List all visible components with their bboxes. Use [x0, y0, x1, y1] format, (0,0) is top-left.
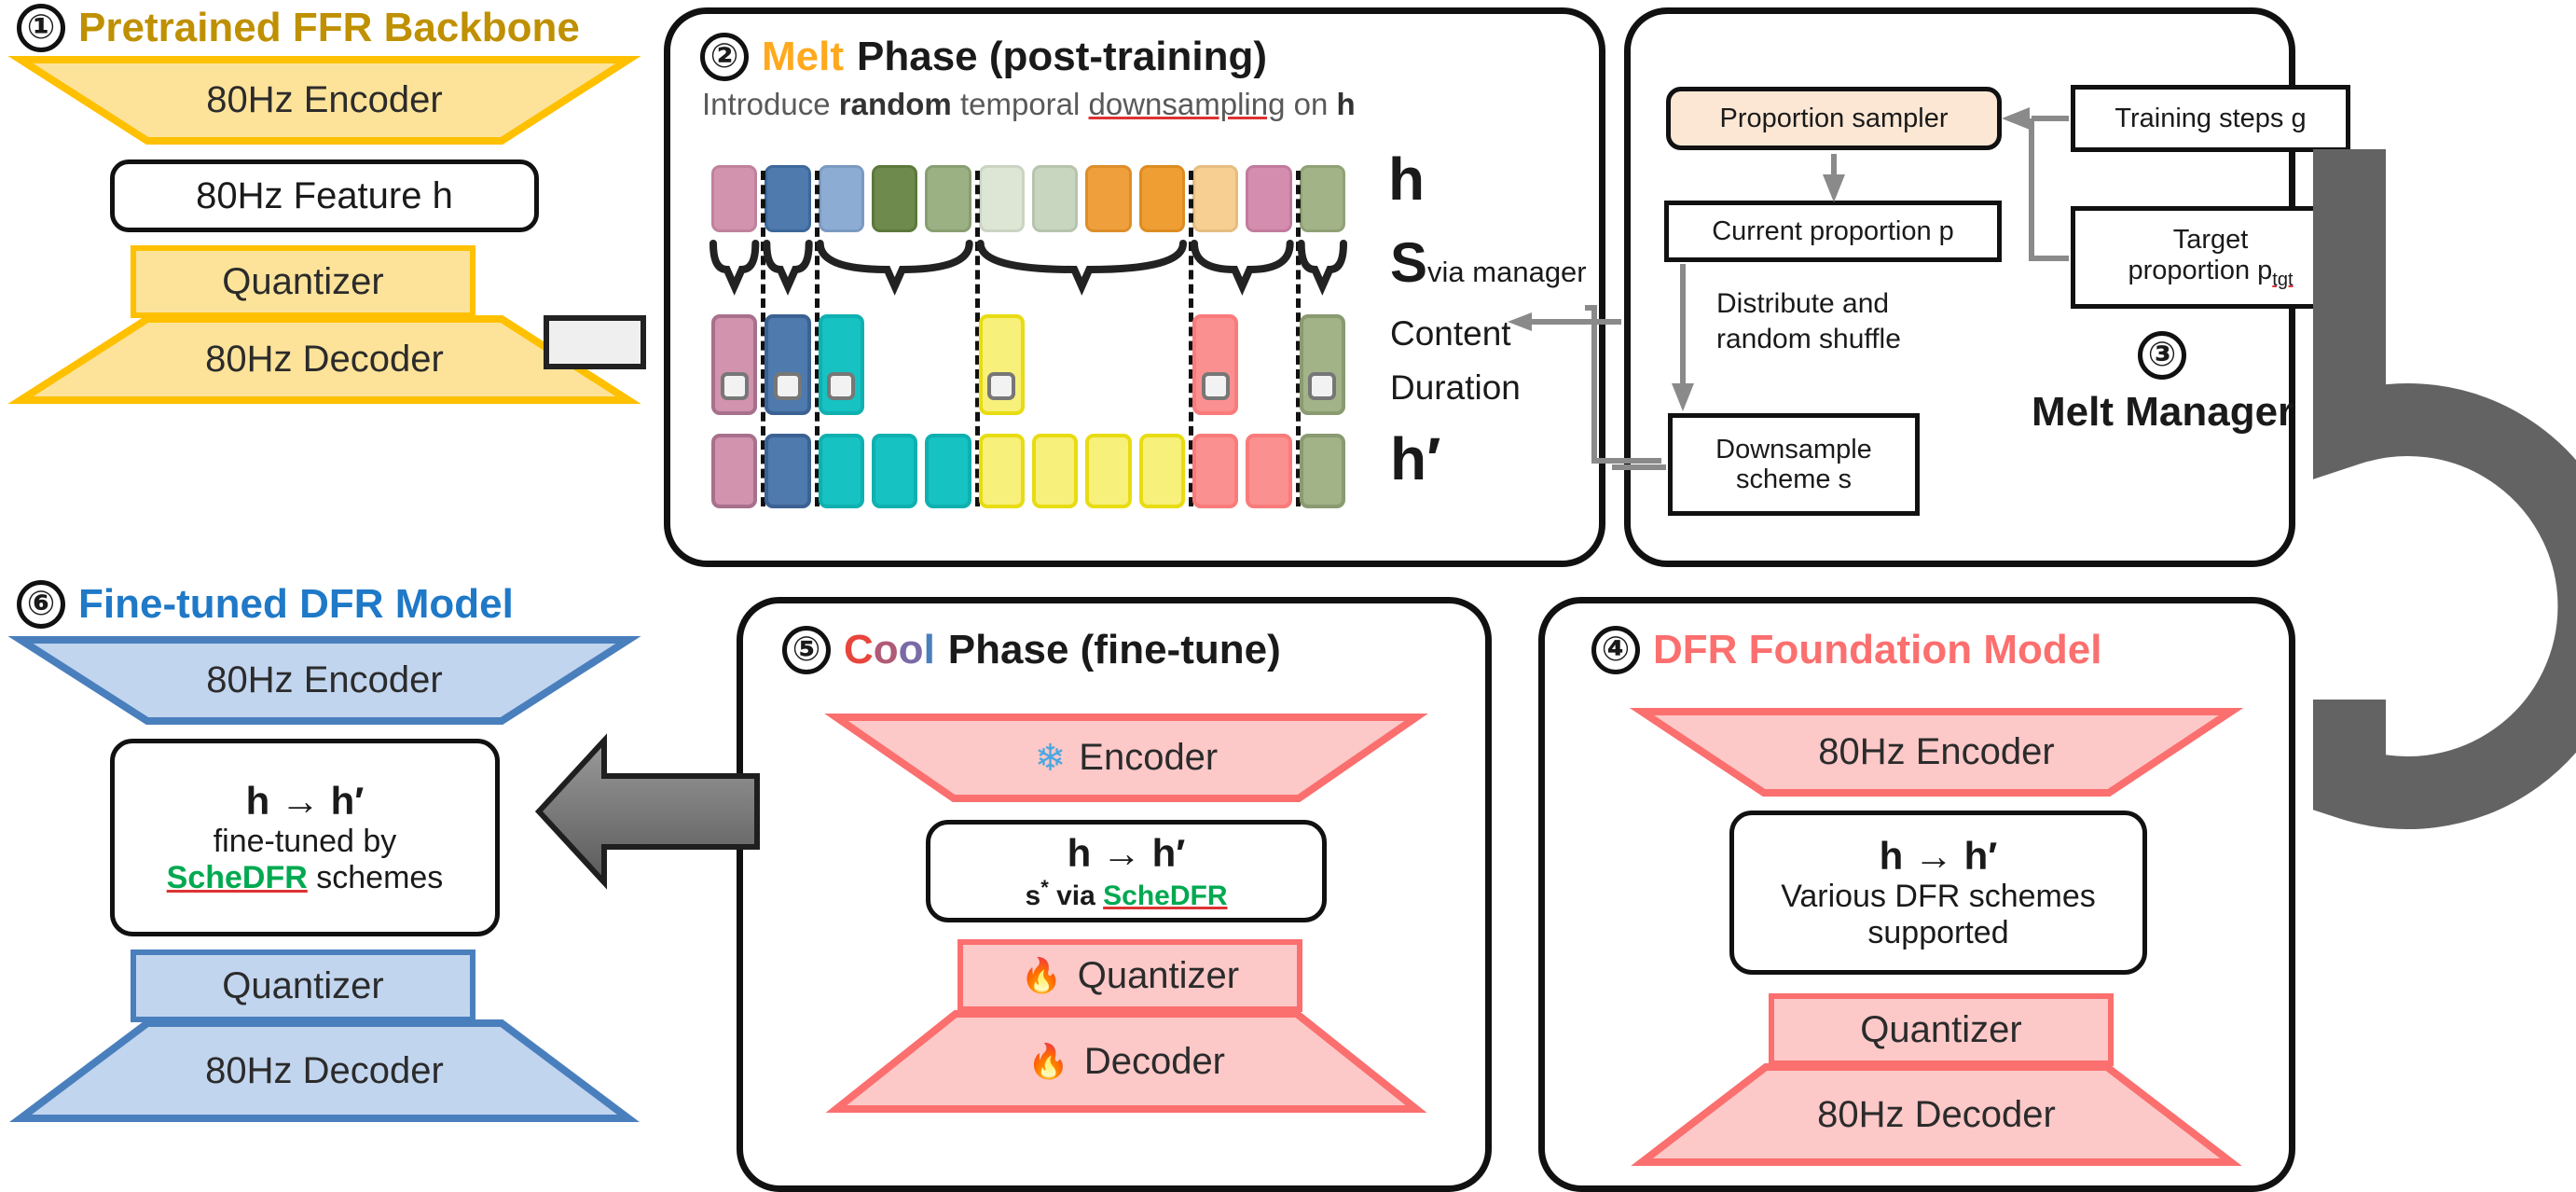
step-number-4: ④: [1591, 626, 1640, 674]
group-brace: [1302, 243, 1343, 286]
panel2-title-melt: Melt: [762, 34, 844, 80]
scheme-feedback-line: [1557, 298, 1678, 476]
panel1-quantizer: Quantizer: [131, 245, 475, 318]
panel5-map-line: h → h′: [1068, 831, 1186, 876]
panel6-title: Fine-tuned DFR Model: [78, 581, 514, 628]
panel4-quantizer: Quantizer: [1769, 993, 2114, 1066]
panel5-encoder-label: Encoder: [1079, 737, 1218, 779]
panel4-title-row: ④ DFR Foundation Model: [1591, 626, 2101, 674]
panel2-subtitle-random: random: [839, 87, 952, 121]
panel2-subtitle-downsampling: downsampling: [1089, 87, 1286, 121]
panel6-sub-line1: fine-tuned by: [214, 824, 397, 860]
panel-melt-manager: Proportion sampler Current proportion p …: [1624, 7, 2295, 567]
panel5-title-row: ⑤ Cool Phase (fine-tune): [782, 626, 1281, 674]
panel2-s-sub: via manager: [1427, 256, 1587, 288]
group-duration-marker: [774, 372, 802, 400]
panel2-braces-row: [711, 238, 1345, 298]
panel5-decoder-label-wrap: 🔥 Decoder: [833, 1010, 1420, 1113]
panel6-sub-line2: ScheDFR schemes: [167, 860, 444, 896]
panel2-subtitle: Introduce random temporal downsampling o…: [702, 87, 1356, 122]
panel2-subtitle-h: h: [1337, 87, 1356, 121]
panel5-quantizer: 🔥 Quantizer: [957, 939, 1302, 1012]
group-brace-set: [711, 238, 1345, 298]
hprime-frame-block: [765, 434, 810, 508]
panel3-arrows: [1631, 14, 2302, 574]
panel6-quantizer: Quantizer: [131, 949, 475, 1022]
hprime-frame-block: [1032, 434, 1078, 508]
group-brace: [766, 243, 808, 286]
panel4-sub-line2: supported: [1867, 915, 2008, 951]
panel5-encoder-label-wrap: ❄ Encoder: [833, 714, 1420, 802]
panel-cool-phase: ⑤ Cool Phase (fine-tune) ❄ Encoder h → h…: [737, 597, 1492, 1192]
fire-icon-quantizer: 🔥: [1021, 956, 1063, 995]
panel1-panel2-connector: [544, 315, 646, 369]
group-duration-marker: [827, 372, 855, 400]
panel6-title-row: ⑥ Fine-tuned DFR Model: [17, 580, 514, 629]
panel6-schedfr: ScheDFR: [167, 860, 308, 895]
panel1-feature-label: 80Hz Feature h: [196, 175, 453, 217]
snowflake-icon: ❄: [1035, 737, 1067, 780]
group-duration-marker: [1202, 372, 1230, 400]
panel1-quantizer-label: Quantizer: [222, 261, 383, 303]
hprime-frame-block: [979, 434, 1025, 508]
panel4-decoder-label: 80Hz Decoder: [1638, 1063, 2235, 1166]
hprime-frame-block: [1139, 434, 1185, 508]
panel6-quantizer-label: Quantizer: [222, 965, 383, 1007]
panel1-encoder: 80Hz Encoder: [17, 56, 632, 145]
panel6-map-box: h → h′ fine-tuned by ScheDFR schemes: [110, 739, 500, 936]
group-brace: [713, 243, 755, 286]
panel2-s-glyph: S: [1390, 231, 1427, 294]
group-duration-marker: [721, 372, 749, 400]
panel6-encoder-label: 80Hz Encoder: [17, 636, 632, 725]
recirculation-arrow-outline: [2247, 140, 2576, 793]
panel5-sub-s: s: [1026, 880, 1041, 911]
group-brace: [1194, 243, 1290, 286]
step-number-6: ⑥: [17, 580, 65, 629]
panel6-encoder: 80Hz Encoder: [17, 636, 632, 725]
hprime-frame-block: [1192, 434, 1238, 508]
hprime-frame-block: [872, 434, 917, 508]
panel2-subtitle-e: on: [1285, 87, 1336, 121]
panel6-decoder: 80Hz Decoder: [17, 1019, 632, 1122]
panel4-quantizer-label: Quantizer: [1860, 1009, 2021, 1051]
panel2-subtitle-c: temporal: [952, 87, 1089, 121]
panel1-feature-box: 80Hz Feature h: [110, 159, 539, 232]
hprime-frame-block: [711, 434, 757, 508]
panel6-decoder-label: 80Hz Decoder: [17, 1019, 632, 1122]
step-number-2: ②: [700, 33, 749, 81]
panel5-sub-line: s* via ScheDFR: [1026, 876, 1228, 912]
panel2-h-label: h: [1388, 145, 1425, 214]
panel2-title-rest: Phase (post-training): [857, 34, 1267, 80]
panel2-subtitle-a: Introduce: [702, 87, 839, 121]
panel2-hprime-label: h′: [1390, 424, 1440, 493]
panel5-sub-star: *: [1040, 876, 1049, 899]
hprime-frame-block: [925, 434, 971, 508]
panel6-map-line: h → h′: [246, 779, 365, 824]
step-number-5: ⑤: [782, 626, 831, 674]
finetune-transfer-arrow: [531, 728, 765, 895]
panel2-hprime-row: [711, 434, 1345, 508]
panel-melt-phase: ② Melt Phase (post-training) Introduce r…: [664, 7, 1605, 567]
panel5-quantizer-label: Quantizer: [1078, 955, 1239, 997]
panel1-title-row: ① Pretrained FFR Backbone: [17, 4, 580, 52]
panel6-schemes: schemes: [308, 860, 444, 895]
panel2-content-label: Content: [1390, 314, 1511, 353]
panel2-title-row: ② Melt Phase (post-training): [700, 33, 1267, 81]
panel5-decoder-label: Decoder: [1084, 1041, 1225, 1083]
panel5-map-box: h → h′ s* via ScheDFR: [926, 820, 1327, 922]
panel-pretrained-ffr-backbone: ① Pretrained FFR Backbone 80Hz Encoder 8…: [0, 0, 653, 560]
panel1-encoder-label: 80Hz Encoder: [17, 56, 632, 145]
panel4-map-line: h → h′: [1880, 834, 1998, 879]
group-duration-marker: [987, 372, 1015, 400]
hprime-frame-block: [1085, 434, 1131, 508]
panel2-content-duration-row: [711, 314, 1345, 415]
panel4-sub-line1: Various DFR schemes: [1781, 879, 2096, 915]
panel1-decoder: 80Hz Decoder: [17, 315, 632, 404]
panel5-title-cool: Cool: [844, 627, 935, 673]
panel5-decoder: 🔥 Decoder: [833, 1010, 1420, 1113]
group-brace: [981, 243, 1183, 286]
panel4-title: DFR Foundation Model: [1653, 627, 2101, 673]
group-brace: [820, 243, 970, 286]
panel5-encoder: ❄ Encoder: [833, 714, 1420, 802]
panel5-title-rest: Phase (fine-tune): [948, 627, 1281, 673]
panel4-encoder: 80Hz Encoder: [1638, 708, 2235, 797]
panel4-map-box: h → h′ Various DFR schemes supported: [1729, 811, 2147, 975]
fire-icon-decoder: 🔥: [1027, 1042, 1069, 1081]
hprime-frame-block: [1300, 434, 1345, 508]
hprime-frame-block: [1246, 434, 1291, 508]
hprime-frame-block: [819, 434, 864, 508]
panel2-duration-label: Duration: [1390, 368, 1521, 408]
panel1-title: Pretrained FFR Backbone: [78, 5, 580, 51]
panel-dfr-foundation-model: ④ DFR Foundation Model 80Hz Encoder h → …: [1538, 597, 2295, 1192]
step-number-1: ①: [17, 4, 65, 52]
panel2-s-label: Svia manager: [1390, 230, 1587, 295]
panel5-sub-via: via: [1049, 880, 1103, 911]
panel1-decoder-label: 80Hz Decoder: [17, 315, 632, 404]
group-duration-marker: [1308, 372, 1336, 400]
panel4-encoder-label: 80Hz Encoder: [1638, 708, 2235, 797]
panel4-decoder: 80Hz Decoder: [1638, 1063, 2235, 1166]
panel5-sub-schedfr: ScheDFR: [1103, 880, 1227, 911]
